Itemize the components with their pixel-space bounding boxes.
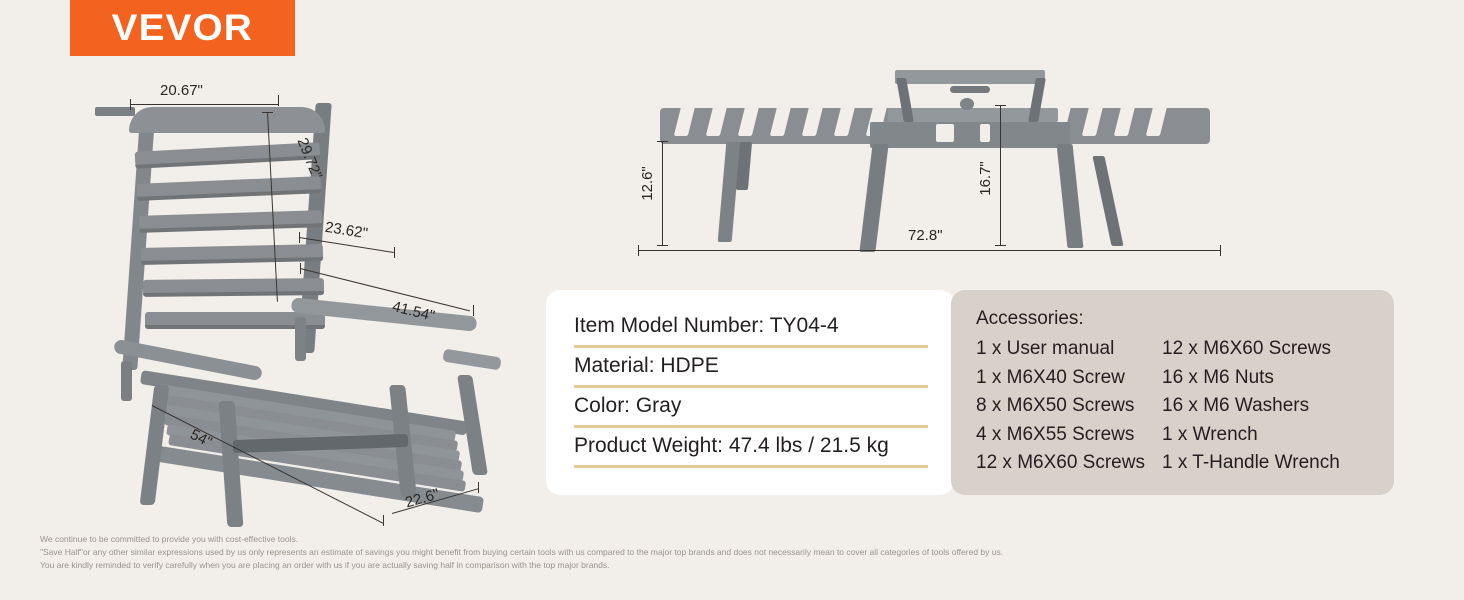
backrest-slat bbox=[143, 278, 324, 297]
accessories-title: Accessories: bbox=[976, 308, 1084, 330]
accessory-item: 1 x Wrench bbox=[1162, 423, 1380, 447]
spec-row-weight: Product Weight: 47.4 lbs / 21.5 kg bbox=[574, 428, 928, 468]
leg-foot-end bbox=[718, 142, 741, 242]
accessories-panel: Accessories: 1 x User manual 12 x M6X60 … bbox=[951, 290, 1394, 495]
dimension-label-72-8: 72.8" bbox=[908, 227, 943, 244]
dimension-cap bbox=[299, 232, 300, 243]
accessory-item: 12 x M6X60 Screws bbox=[1162, 337, 1380, 361]
accessory-item: 1 x T-Handle Wrench bbox=[1162, 451, 1380, 475]
specification-card: Item Model Number: TY04-4 Material: HDPE… bbox=[546, 290, 954, 495]
spec-row-color: Color: Gray bbox=[574, 388, 928, 428]
dimension-line-seat-height bbox=[1000, 105, 1001, 245]
dimension-line-overall-length bbox=[638, 250, 1220, 251]
frame-cutout bbox=[936, 124, 954, 142]
dimension-cap bbox=[657, 141, 668, 142]
backrest-top-rail bbox=[129, 107, 325, 133]
backrest-slat bbox=[135, 142, 321, 169]
backrest-slat bbox=[137, 176, 322, 201]
vevor-badge-icon bbox=[95, 107, 135, 116]
armrest-support-left bbox=[121, 361, 132, 401]
disclaimer-line-2: "Save Half"or any other similar expressi… bbox=[40, 546, 1440, 559]
specification-list: Item Model Number: TY04-4 Material: HDPE… bbox=[574, 308, 928, 468]
dimension-label-12-6: 12.6" bbox=[639, 166, 656, 201]
backrest-slat bbox=[139, 210, 322, 233]
leg-rear bbox=[1057, 144, 1084, 248]
disclaimer-line-1: We continue to be committed to provide y… bbox=[40, 533, 1440, 546]
dimension-cap bbox=[130, 99, 131, 110]
dimension-cap bbox=[995, 245, 1006, 246]
dimension-cap bbox=[1220, 245, 1221, 256]
dimension-cap bbox=[657, 245, 668, 246]
dimension-line-width-top bbox=[130, 104, 278, 105]
accessory-item: 16 x M6 Washers bbox=[1162, 394, 1380, 418]
disclaimer-block: We continue to be committed to provide y… bbox=[40, 533, 1440, 573]
accessory-item: 12 x M6X60 Screws bbox=[976, 451, 1162, 475]
disclaimer-line-3: You are kindly reminded to verify carefu… bbox=[40, 559, 1440, 572]
accessory-item: 16 x M6 Nuts bbox=[1162, 366, 1380, 390]
dimension-cap bbox=[394, 247, 395, 258]
accessory-item: 1 x M6X40 Screw bbox=[976, 366, 1162, 390]
backrest-slat bbox=[141, 244, 323, 265]
backrest-board-top bbox=[895, 70, 1045, 84]
dimension-cap bbox=[300, 263, 301, 274]
frame-cutout bbox=[980, 124, 990, 142]
recline-bracket bbox=[950, 86, 990, 93]
dimension-cap bbox=[383, 515, 384, 526]
dimension-cap bbox=[262, 112, 273, 113]
vevor-logo: VEVOR bbox=[70, 0, 295, 56]
accessories-list: 1 x User manual 12 x M6X60 Screws 1 x M6… bbox=[976, 337, 1380, 475]
dimension-line-foot-height bbox=[662, 141, 663, 245]
spec-row-model: Item Model Number: TY04-4 bbox=[574, 308, 928, 348]
dimension-cap bbox=[278, 95, 279, 106]
accessory-item: 8 x M6X50 Screws bbox=[976, 394, 1162, 418]
leg-front bbox=[859, 144, 888, 252]
dimension-cap bbox=[478, 482, 479, 493]
seat-frame-rail bbox=[870, 122, 1070, 148]
dimension-label-20-67: 20.67" bbox=[160, 82, 203, 99]
dimension-cap bbox=[995, 105, 1006, 106]
dimension-label-16-7: 16.7" bbox=[977, 161, 994, 196]
spec-row-material: Material: HDPE bbox=[574, 348, 928, 388]
dimension-cap bbox=[473, 305, 474, 316]
leg-brace-rear bbox=[1092, 156, 1123, 246]
accessory-item: 4 x M6X55 Screws bbox=[976, 423, 1162, 447]
accessory-item: 1 x User manual bbox=[976, 337, 1162, 361]
pivot-knob bbox=[960, 98, 974, 110]
vevor-logo-text: VEVOR bbox=[112, 7, 253, 49]
dimension-cap bbox=[638, 245, 639, 256]
product-spec-sheet: VEVOR bbox=[0, 0, 1464, 600]
